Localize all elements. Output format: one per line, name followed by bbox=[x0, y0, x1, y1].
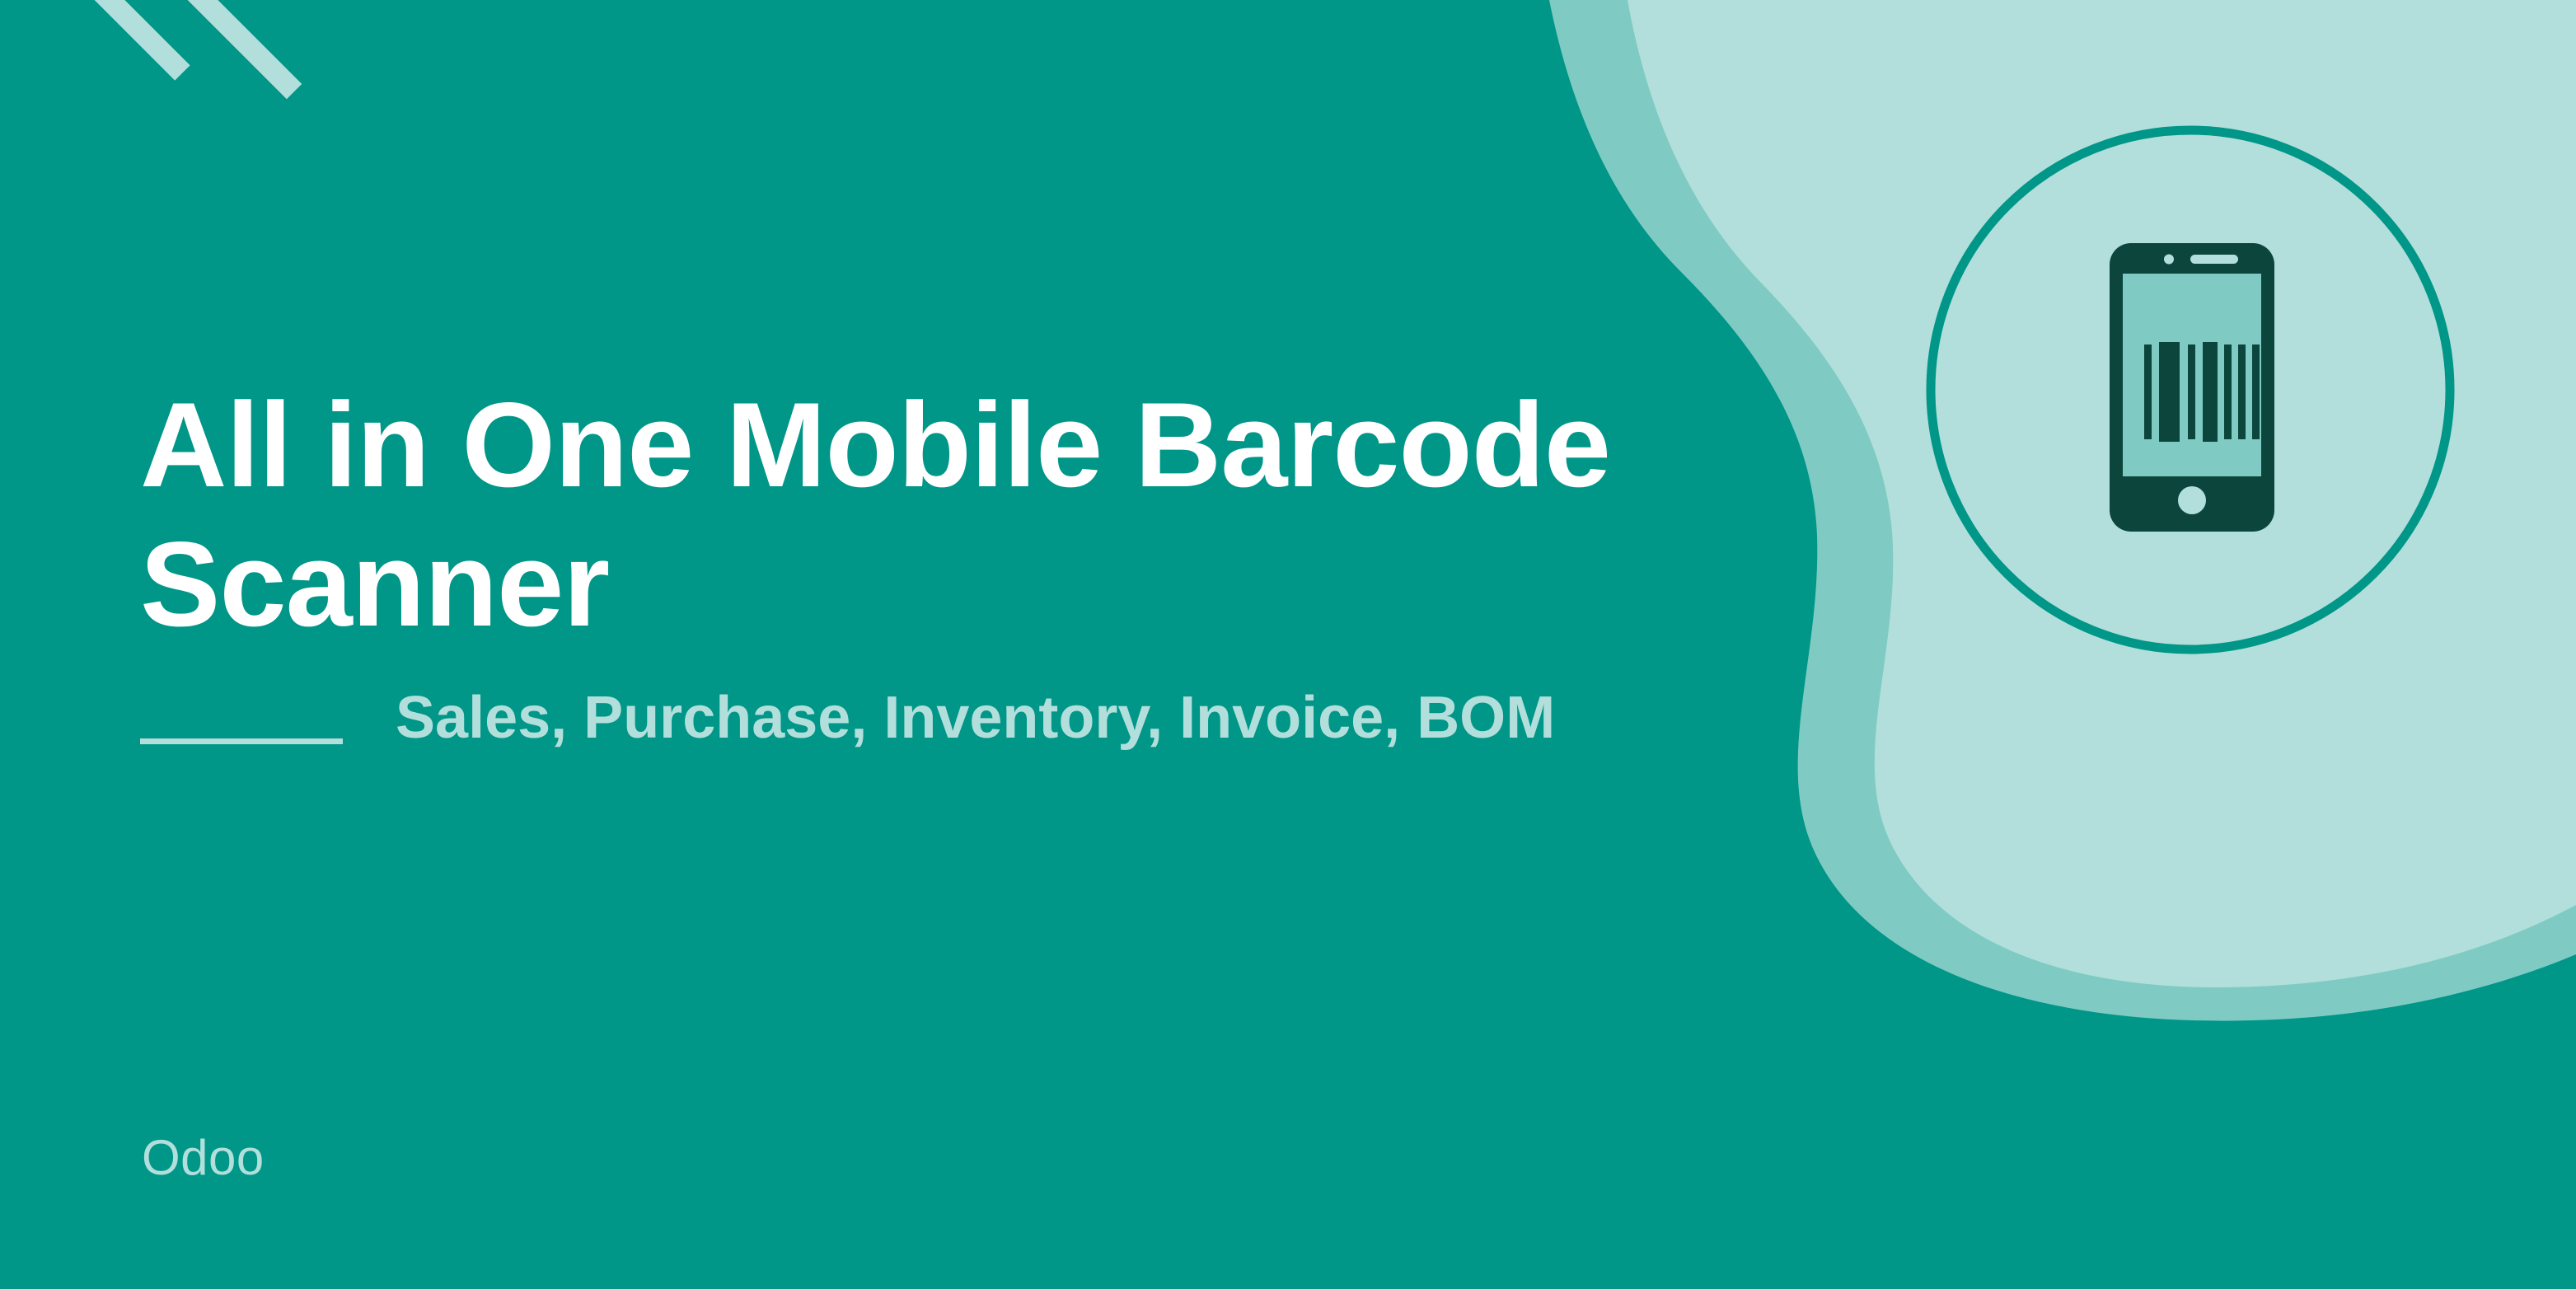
presentation-slide: All in One Mobile Barcode Scanner Sales,… bbox=[0, 0, 2576, 1289]
phone-camera-dot bbox=[2164, 255, 2174, 265]
barcode-bar bbox=[2238, 345, 2246, 439]
subtitle-rule-divider bbox=[140, 738, 343, 744]
slide-text-block: All in One Mobile Barcode Scanner Sales,… bbox=[140, 375, 1772, 755]
barcode-bar bbox=[2159, 342, 2180, 442]
phone-home-button bbox=[2178, 486, 2206, 514]
barcode-bar bbox=[2144, 345, 2152, 439]
barcode-bar bbox=[2224, 345, 2232, 439]
phone-speaker-slot bbox=[2190, 255, 2238, 264]
subtitle-row: Sales, Purchase, Inventory, Invoice, BOM bbox=[140, 681, 1772, 756]
barcode-bar bbox=[2252, 345, 2260, 439]
slide-title: All in One Mobile Barcode Scanner bbox=[140, 375, 1772, 654]
barcode-bar bbox=[2188, 345, 2195, 439]
slide-subtitle: Sales, Purchase, Inventory, Invoice, BOM bbox=[396, 681, 1555, 756]
footer-brand-label: Odoo bbox=[142, 1129, 265, 1186]
barcode-bar bbox=[2203, 342, 2218, 442]
